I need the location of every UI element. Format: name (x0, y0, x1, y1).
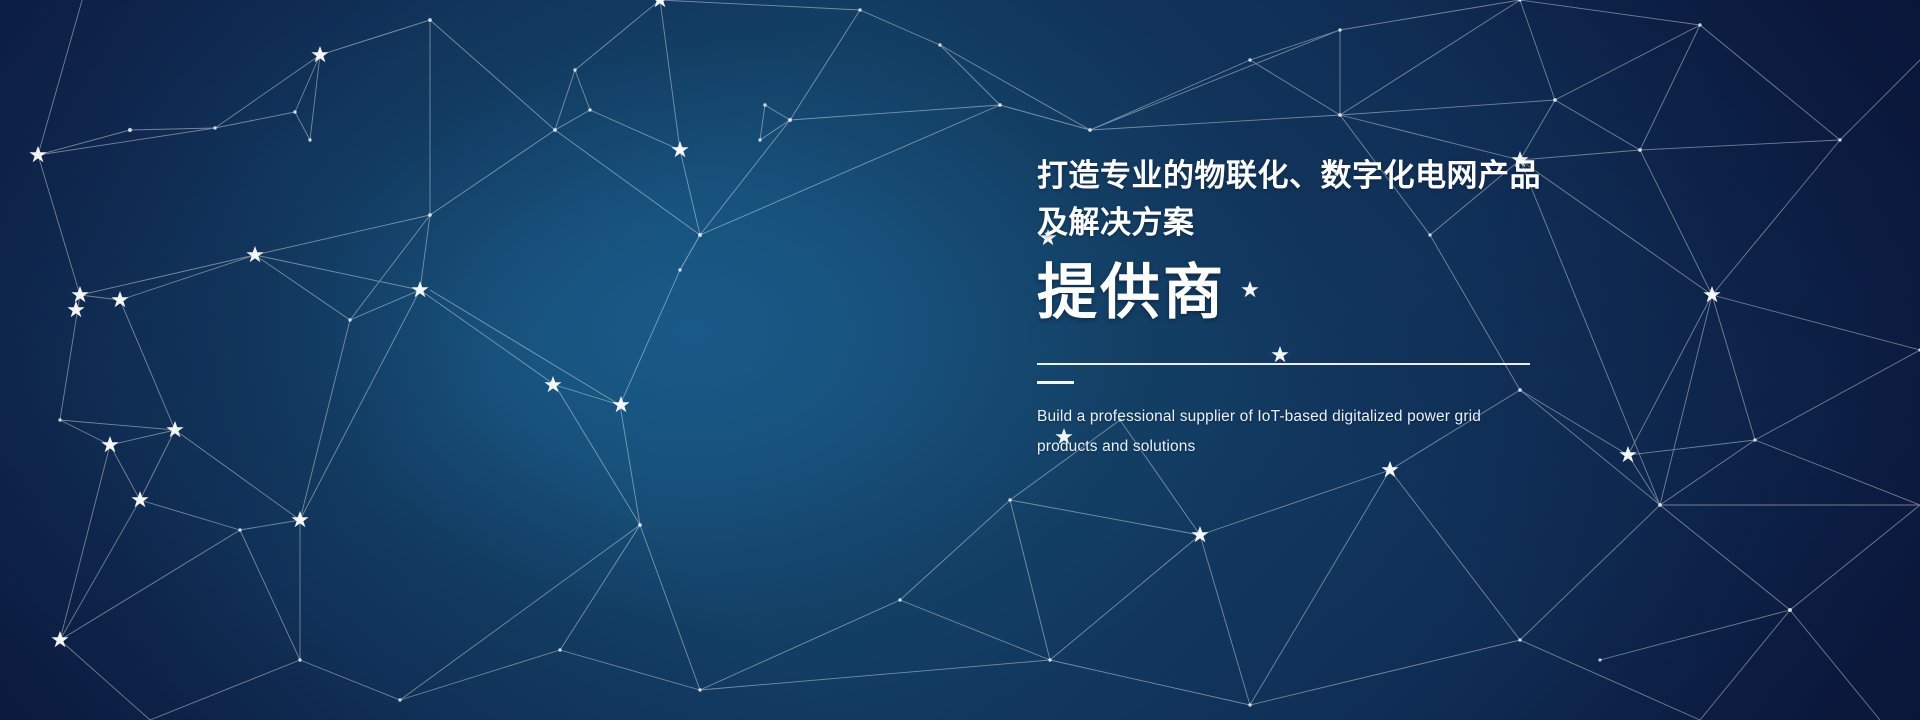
subtitle: Build a professional supplier of IoT-bas… (1037, 402, 1657, 462)
divider-group (1037, 363, 1657, 384)
subtitle-line-2: products and solutions (1037, 432, 1657, 462)
horizontal-rule (1037, 363, 1530, 365)
accent-rule (1037, 381, 1074, 384)
page-title: 提供商 (1037, 256, 1657, 330)
subtitle-line-1: Build a professional supplier of IoT-bas… (1037, 402, 1657, 432)
headline-line-1: 打造专业的物联化、数字化电网产品 (1037, 152, 1657, 199)
hero-banner: 打造专业的物联化、数字化电网产品 及解决方案 提供商 Build a profe… (0, 0, 1920, 720)
headline: 打造专业的物联化、数字化电网产品 及解决方案 (1037, 152, 1657, 246)
hero-copy-block: 打造专业的物联化、数字化电网产品 及解决方案 提供商 Build a profe… (1037, 152, 1657, 462)
headline-line-2: 及解决方案 (1037, 199, 1657, 246)
